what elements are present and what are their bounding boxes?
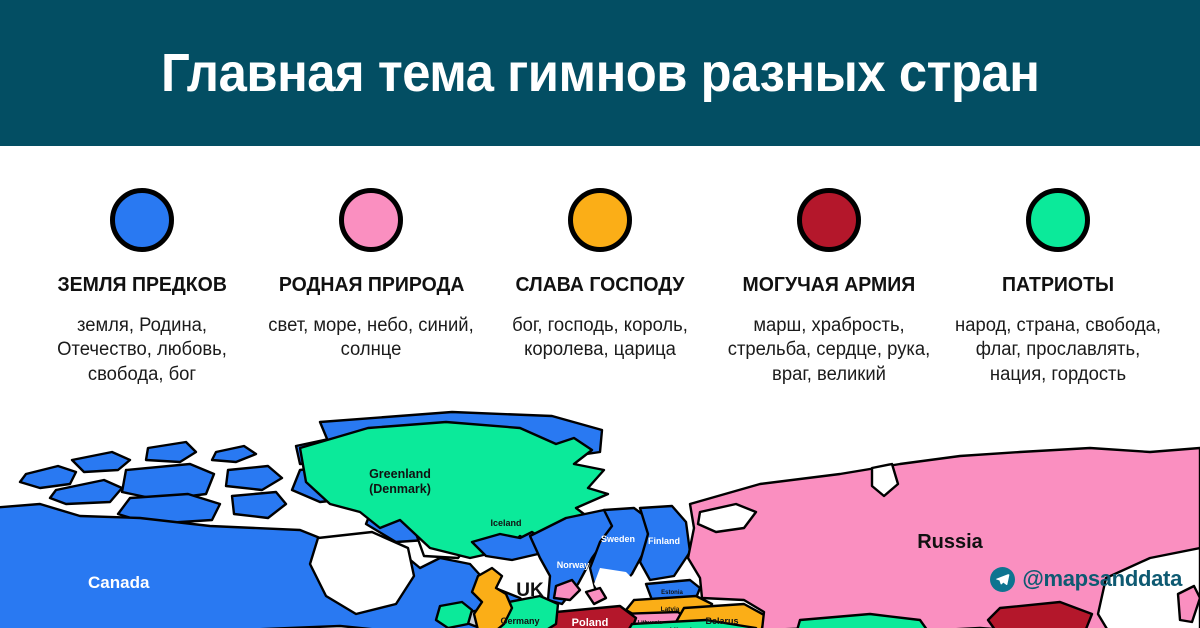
legend-item-land-of-ancestors: ЗЕМЛЯ ПРЕДКОВ земля, Родина, Отечество, … [28, 146, 257, 387]
legend-color-swatch-blue [110, 188, 174, 252]
legend-words-glory-to-god: бог, господь, король, королева, царица [495, 314, 705, 363]
map-label-estonia: Estonia [661, 590, 683, 596]
watermark: @mapsanddata [990, 566, 1182, 592]
map-label-belarus: Belarus [705, 616, 738, 626]
country-arctic-island-4 [146, 442, 196, 462]
legend-title-patriots: ПАТРИОТЫ [1002, 273, 1114, 297]
country-arctic-island-9 [232, 492, 286, 518]
header-band: Главная тема гимнов разных стран [0, 0, 1200, 146]
map-label-uk: UK [516, 580, 544, 601]
country-arctic-island-6 [212, 446, 256, 462]
map-label-greenland-sub: (Denmark) [369, 482, 431, 496]
legend-title-native-nature: РОДНАЯ ПРИРОДА [278, 273, 464, 297]
legend-item-native-nature: РОДНАЯ ПРИРОДА свет, море, небо, синий, … [257, 146, 486, 363]
legend: ЗЕМЛЯ ПРЕДКОВ земля, Родина, Отечество, … [0, 146, 1200, 408]
legend-words-patriots: народ, страна, свобода, флаг, прославлят… [953, 314, 1163, 387]
legend-color-swatch-green [1026, 188, 1090, 252]
map-label-finland: Finland [648, 536, 680, 546]
map-label-norway: Norway [557, 560, 590, 570]
legend-title-land-of-ancestors: ЗЕМЛЯ ПРЕДКОВ [58, 273, 227, 297]
legend-color-swatch-darkred [797, 188, 861, 252]
legend-title-mighty-army: МОГУЧАЯ АРМИЯ [742, 273, 915, 297]
watermark-handle: @mapsanddata [1022, 566, 1182, 592]
legend-words-mighty-army: марш, храбрость, стрельба, сердце, рука,… [724, 314, 934, 387]
legend-item-glory-to-god: СЛАВА ГОСПОДУ бог, господь, король, коро… [486, 146, 715, 363]
legend-item-patriots: ПАТРИОТЫ народ, страна, свобода, флаг, п… [943, 146, 1172, 387]
country-arctic-island-1 [20, 466, 76, 488]
legend-words-native-nature: свет, море, небо, синий, солнце [266, 314, 476, 363]
country-ireland [436, 602, 472, 628]
legend-color-swatch-orange [568, 188, 632, 252]
map-label-latvia: Latvia [661, 606, 680, 613]
map-label-germany: Germany [500, 616, 539, 626]
country-arctic-island-3 [72, 452, 130, 472]
world-map: Canada Greenland (Denmark) Iceland Norwa… [0, 408, 1200, 628]
map-label-russia: Russia [917, 531, 983, 553]
map-label-greenland: Greenland [369, 467, 431, 481]
telegram-icon [990, 567, 1015, 592]
legend-title-glory-to-god: СЛАВА ГОСПОДУ [515, 273, 684, 297]
map-label-lithuania: Lithuania [638, 620, 663, 626]
country-arctic-island-8 [226, 466, 282, 490]
map-label-iceland: Iceland [490, 518, 521, 528]
legend-words-land-of-ancestors: земля, Родина, Отечество, любовь, свобод… [38, 314, 248, 387]
page-title: Главная тема гимнов разных стран [161, 46, 1039, 100]
map-label-sweden: Sweden [601, 534, 635, 544]
map-label-canada: Canada [88, 573, 150, 592]
map-label-poland: Poland [572, 617, 609, 628]
legend-item-mighty-army: МОГУЧАЯ АРМИЯ марш, храбрость, стрельба,… [714, 146, 943, 387]
legend-color-swatch-pink [339, 188, 403, 252]
infographic-root: Главная тема гимнов разных стран ЗЕМЛЯ П… [0, 0, 1200, 628]
